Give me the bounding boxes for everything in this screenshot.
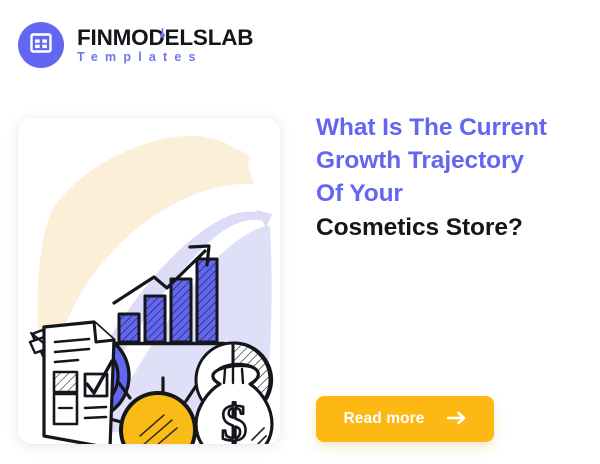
brand-text-block: FINMODELSLAB Templates [77, 26, 253, 65]
headline-line-2: Growth Trajectory [316, 145, 584, 178]
page-title: What Is The Current Growth Trajectory Of… [316, 112, 584, 244]
read-more-label: Read more [343, 410, 424, 428]
brand-subtitle: Templates [77, 50, 253, 64]
checklist-document [44, 322, 114, 444]
headline-emphasis: Cosmetics Store? [316, 212, 584, 245]
read-more-button[interactable]: Read more [316, 396, 494, 442]
brand-logo[interactable]: FINMODELSLAB Templates [18, 22, 253, 68]
business-growth-illustration: $ [18, 118, 280, 444]
headline-line-1: What Is The Current [316, 112, 584, 145]
headline-line-3: Of Your [316, 178, 584, 211]
illustration-card: $ [18, 118, 280, 444]
brand-mark-circle [18, 22, 64, 68]
arrow-right-icon [447, 411, 467, 428]
svg-text:$: $ [221, 395, 247, 444]
grid-squares-icon [29, 31, 53, 60]
brand-name: FINMODELSLAB [77, 26, 253, 50]
